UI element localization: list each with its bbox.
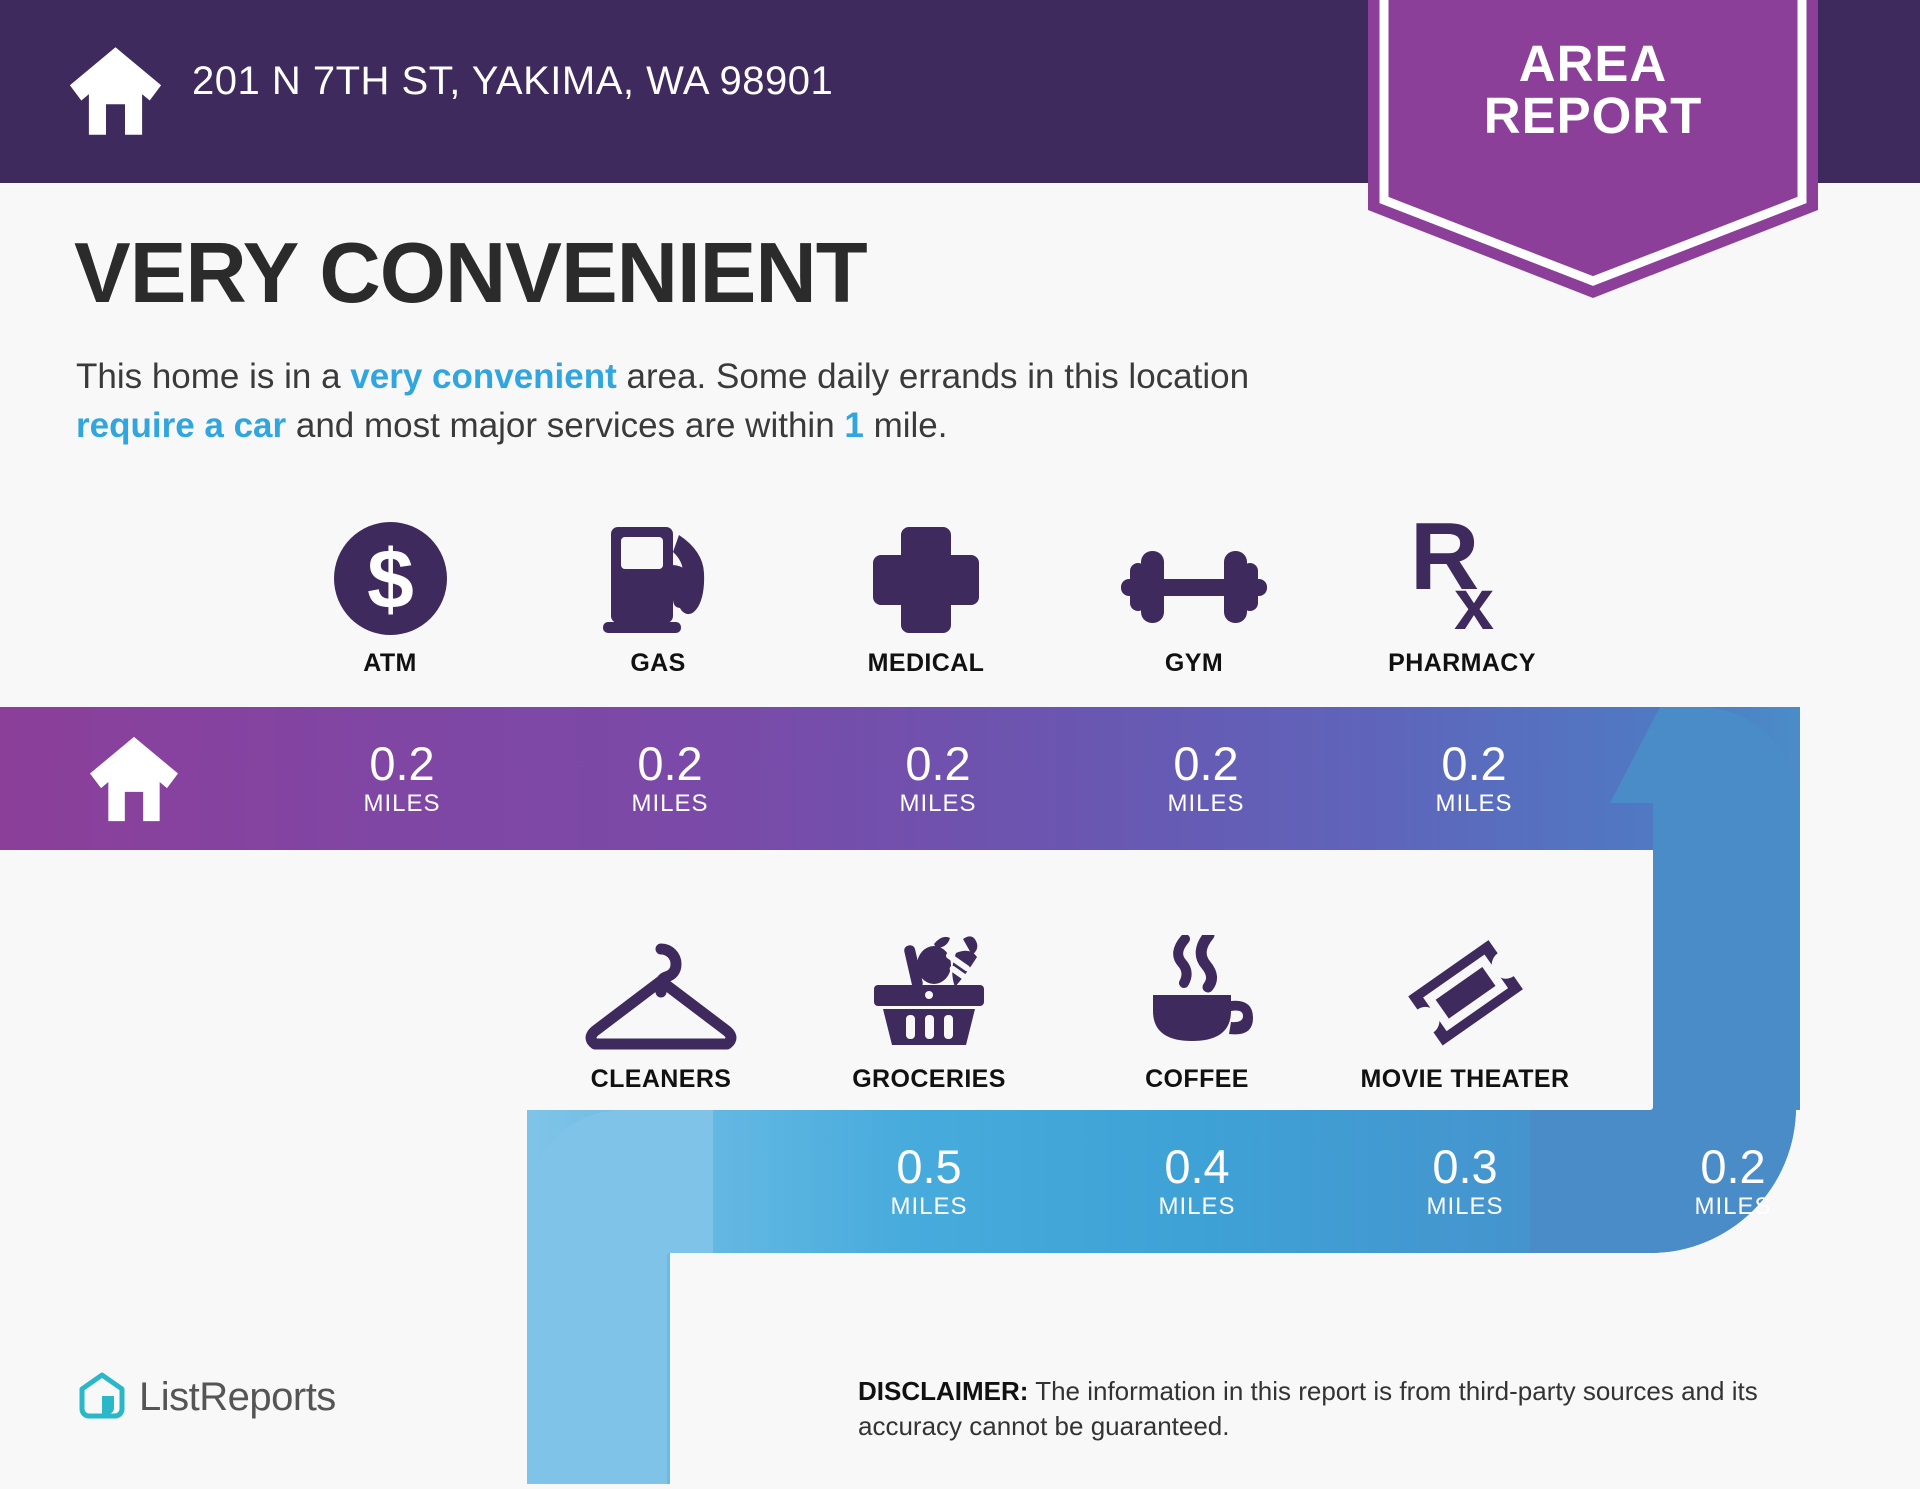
listreports-house-icon — [78, 1372, 126, 1422]
distance-ribbon: 0.2 MILES 0.2 MILES 0.2 MILES 0.2 MILES … — [0, 707, 1920, 1484]
home-icon — [68, 45, 163, 137]
distance-value: 0.4 — [1164, 1143, 1229, 1191]
badge-line-1: AREA — [1368, 38, 1818, 90]
distance-cell-medical: 0.2 MILES — [804, 707, 1072, 850]
primary-distance-row: 0.2 MILES 0.2 MILES 0.2 MILES 0.2 MILES … — [0, 707, 1608, 850]
summary-text: This home is in a very convenient area. … — [76, 352, 1366, 450]
distance-value: 0.5 — [896, 1143, 961, 1191]
secondary-distance-row: 0.5 MILES 0.4 MILES 0.3 MILES 0.2 MILES — [527, 1110, 1867, 1253]
service-label: PHARMACY — [1388, 649, 1536, 678]
distance-cell-groceries: 0.4 MILES — [1063, 1110, 1331, 1253]
distance-value: 0.2 — [1700, 1143, 1765, 1191]
distance-unit: MILES — [631, 790, 708, 818]
service-gas: GAS — [524, 517, 792, 678]
badge-label: AREA REPORT — [1368, 38, 1818, 142]
home-marker-cell — [0, 707, 268, 850]
service-label: GYM — [1165, 649, 1223, 678]
summary-part-3: and most major services are within — [286, 406, 844, 445]
disclaimer: DISCLAIMER: The information in this repo… — [858, 1374, 1858, 1444]
service-medical: MEDICAL — [792, 517, 1060, 678]
distance-value: 0.2 — [637, 740, 702, 788]
distance-unit: MILES — [890, 1193, 967, 1221]
distance-unit: MILES — [899, 790, 976, 818]
distance-spacer — [527, 1110, 795, 1253]
distance-cell-cleaners: 0.5 MILES — [795, 1110, 1063, 1253]
service-label: GAS — [630, 649, 685, 678]
logo-text: ListReports — [139, 1375, 336, 1420]
distance-unit: MILES — [1158, 1193, 1235, 1221]
gas-pump-icon — [599, 517, 717, 635]
distance-cell-gas: 0.2 MILES — [536, 707, 804, 850]
badge-line-2: REPORT — [1368, 90, 1818, 142]
distance-unit: MILES — [1694, 1193, 1771, 1221]
home-icon — [88, 735, 180, 823]
distance-cell-atm: 0.2 MILES — [268, 707, 536, 850]
distance-cell-coffee: 0.3 MILES — [1331, 1110, 1599, 1253]
svg-text:$: $ — [367, 532, 414, 626]
service-label: MEDICAL — [868, 649, 985, 678]
dumbbell-icon — [1113, 517, 1275, 635]
summary-part-4: mile. — [864, 406, 948, 445]
service-gym: GYM — [1060, 517, 1328, 678]
service-label: ATM — [363, 649, 417, 678]
summary-highlight-2: require a car — [76, 406, 286, 445]
dollar-circle-icon: $ — [334, 517, 447, 635]
primary-services-icon-row: $ ATM GAS MEDICAL — [256, 517, 1596, 678]
medical-cross-icon — [871, 517, 981, 635]
summary-highlight-1: very convenient — [350, 357, 617, 396]
summary-highlight-3: 1 — [844, 406, 863, 445]
distance-value: 0.2 — [1173, 740, 1238, 788]
distance-value: 0.2 — [369, 740, 434, 788]
summary-part-2: area. Some daily errands in this locatio… — [617, 357, 1249, 396]
distance-unit: MILES — [1167, 790, 1244, 818]
distance-unit: MILES — [1426, 1193, 1503, 1221]
service-pharmacy: R x PHARMACY — [1328, 517, 1596, 678]
disclaimer-label: DISCLAIMER: — [858, 1376, 1028, 1406]
distance-cell-gym: 0.2 MILES — [1072, 707, 1340, 850]
distance-value: 0.2 — [1441, 740, 1506, 788]
page-title: 201 N 7TH ST, YAKIMA, WA 98901 — [192, 59, 833, 104]
distance-value: 0.3 — [1432, 1143, 1497, 1191]
rx-icon: R x — [1410, 517, 1514, 635]
distance-cell-movie-theater: 0.2 MILES — [1599, 1110, 1867, 1253]
svg-text:x: x — [1454, 565, 1494, 635]
distance-unit: MILES — [1435, 790, 1512, 818]
distance-unit: MILES — [363, 790, 440, 818]
service-atm: $ ATM — [256, 517, 524, 678]
summary-part-1: This home is in a — [76, 357, 350, 396]
distance-cell-pharmacy: 0.2 MILES — [1340, 707, 1608, 850]
area-report-badge: AREA REPORT — [1368, 0, 1818, 298]
distance-value: 0.2 — [905, 740, 970, 788]
listreports-logo: ListReports — [78, 1372, 336, 1422]
page-heading: VERY CONVENIENT — [74, 228, 867, 320]
